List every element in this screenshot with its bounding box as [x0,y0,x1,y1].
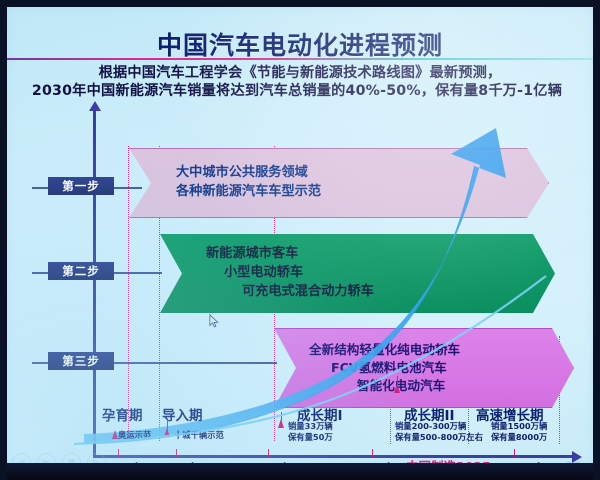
x-tick-mark-2010 [176,449,177,457]
milestone-label-1: 奥运示范 [118,430,151,441]
step-1-line-1: 大中城市公共服务领域 [176,164,548,183]
x-tick-mark-2030 [514,449,515,457]
step-2-line-1: 新能源城市客车 [206,245,555,264]
step-2-line-3: 可充电式混合动力轿车 [242,283,555,302]
x-tick-mark-2020 [372,449,373,457]
phase-note-growth-2: 销量200-300万辆 保有量500-800万左右 [395,421,483,443]
phase-label-introduction: 导入期 [162,404,203,424]
phase-note-rapid-growth: 销量1500万辆 保有量8000万 [491,421,547,443]
bezel-right [593,0,600,480]
phase-note-growth-2-line-2: 保有量500-800万左右 [395,432,483,442]
phase-note-growth-2-line-1: 销量200-300万辆 [395,421,466,431]
mouse-cursor-icon [209,314,219,328]
page-title: 中国汽车电动化进程预测 [6,26,594,62]
step-3-chevron: 全新结构轻量化纯电动轿车 FCV氢燃料电池汽车 智能化电动汽车 [274,328,574,408]
phase-tickline-growth-1 [281,412,282,424]
x-tick-mark-2008 [118,449,119,457]
period-separator-1 [128,146,129,441]
step-tag-1-label: 第一步 [62,179,100,193]
phase-label-incubation: 孕育期 [102,404,143,424]
step-3-line-1: 全新结构轻量化纯电动轿车 [309,341,573,359]
title-divider [6,58,594,60]
subtitle-line-2: 2030年中国新能源汽车销量将达到汽车总销量的40%-50%，保有量8千万-1亿… [6,82,594,100]
phase-note-growth-1-line-2: 保有量50万 [288,432,333,442]
step-1-chevron: 大中城市公共服务领域 各种新能源汽车车型示范 [129,148,549,218]
step-tag-2-label: 第二步 [62,264,100,278]
step-tag-3: 第三步 [48,352,114,370]
bezel-bottom [0,463,600,480]
bezel-left [0,0,7,480]
step-3-line-2: FCV氢燃料电池汽车 [331,359,573,377]
phase-note-rapid-growth-line-1: 销量1500万辆 [491,421,547,431]
slide-subtitle: 根据中国汽车工程学会《节能与新能源技术路线图》最新预测， 2030年中国新能源汽… [6,64,594,101]
phase-note-growth-1: 销量33万辆 保有量50万 [288,421,333,443]
subtitle-line-1: 根据中国汽车工程学会《节能与新能源技术路线图》最新预测， [6,64,594,82]
step-1-line-2: 各种新能源汽车车型示范 [176,183,548,202]
step-tag-3-label: 第三步 [62,354,100,368]
slide-surface: 中国汽车电动化进程预测 根据中国汽车工程学会《节能与新能源技术路线图》最新预测，… [6,6,594,464]
step-2-chevron: 新能源城市客车 小型电动轿车 可充电式混合动力轿车 [160,234,555,313]
step-2-line-2: 小型电动轿车 [224,264,555,283]
phase-note-growth-1-line-1: 销量33万辆 [288,421,333,431]
x-tick-mark-2015 [268,449,269,457]
step-3-line-3: 智能化电动汽车 [357,377,573,395]
milestone-label-2: 十城千辆示范 [174,430,224,441]
phase-note-rapid-growth-line-2: 保有量8000万 [491,432,547,442]
step-tag-1: 第一步 [48,177,114,195]
bezel-top [0,0,600,7]
phase-tickline-growth-2 [397,376,398,390]
presentation-slide: 中国汽车电动化进程预测 根据中国汽车工程学会《节能与新能源技术路线图》最新预测，… [0,0,600,480]
y-axis [93,110,96,458]
step-tag-2: 第二步 [48,262,114,280]
